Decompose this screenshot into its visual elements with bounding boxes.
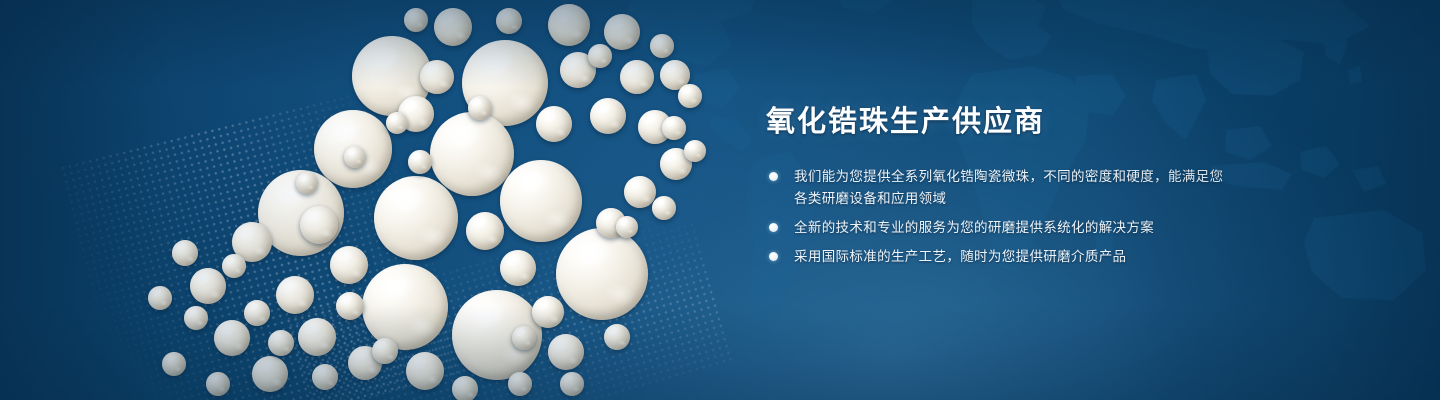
banner-text-block: 氧化锆珠生产供应商 我们能为您提供全系列氧化锆陶瓷微珠，不同的密度和硬度，能满足… [766, 104, 1236, 275]
bullet-item-2: 全新的技术和专业的服务为您的研磨提供系统化的解决方案 [766, 217, 1236, 239]
hero-banner: 氧化锆珠生产供应商 我们能为您提供全系列氧化锆陶瓷微珠，不同的密度和硬度，能满足… [0, 0, 1440, 400]
bullet-text-3: 采用国际标准的生产工艺，随时为您提供研磨介质产品 [794, 249, 1126, 264]
filled-circle-icon [769, 252, 778, 261]
banner-bullet-list: 我们能为您提供全系列氧化锆陶瓷微珠，不同的密度和硬度，能满足您各类研磨设备和应用… [766, 166, 1236, 267]
bullet-item-3: 采用国际标准的生产工艺，随时为您提供研磨介质产品 [766, 246, 1236, 268]
filled-circle-icon [769, 223, 778, 232]
zirconia-beads-image [0, 0, 760, 400]
filled-circle-icon [769, 172, 778, 181]
banner-headline: 氧化锆珠生产供应商 [766, 104, 1236, 140]
bullet-text-2: 全新的技术和专业的服务为您的研磨提供系统化的解决方案 [794, 220, 1154, 235]
bullet-text-1: 我们能为您提供全系列氧化锆陶瓷微珠，不同的密度和硬度，能满足您各类研磨设备和应用… [794, 169, 1223, 206]
bullet-item-1: 我们能为您提供全系列氧化锆陶瓷微珠，不同的密度和硬度，能满足您各类研磨设备和应用… [766, 166, 1236, 210]
